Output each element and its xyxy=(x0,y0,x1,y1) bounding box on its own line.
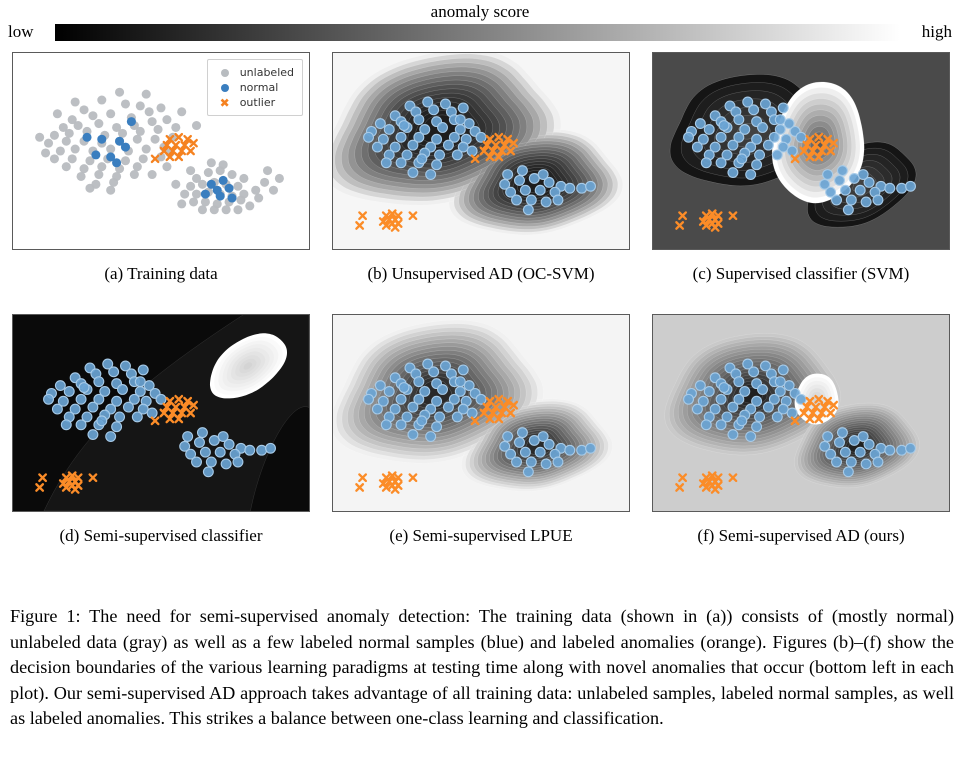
plot-b[interactable] xyxy=(332,52,630,250)
panel-c-caption: (c) Supervised classifier (SVM) xyxy=(652,264,950,284)
plot-d[interactable] xyxy=(12,314,310,512)
colorbar-high-label: high xyxy=(922,22,952,42)
colorbar-low-label: low xyxy=(8,22,34,42)
panel-b-caption: (b) Unsupervised AD (OC-SVM) xyxy=(332,264,630,284)
cross-icon: ✖ xyxy=(214,95,236,110)
legend-item-outlier: ✖ outlier xyxy=(214,95,294,110)
legend-item-unlabeled: unlabeled xyxy=(214,65,294,80)
figure-caption: Figure 1: The need for semi-supervised a… xyxy=(10,604,954,732)
circle-icon xyxy=(214,65,236,80)
legend: unlabeled normal ✖ outlier xyxy=(207,59,303,116)
panel-a-caption: (a) Training data xyxy=(12,264,310,284)
panel-f-caption: (f) Semi-supervised AD (ours) xyxy=(652,526,950,546)
legend-item-normal: normal xyxy=(214,80,294,95)
legend-label-normal: normal xyxy=(240,80,279,95)
panel-d-caption: (d) Semi-supervised classifier xyxy=(12,526,310,546)
plot-e[interactable] xyxy=(332,314,630,512)
plot-f[interactable] xyxy=(652,314,950,512)
colorbar-gradient xyxy=(55,24,900,41)
plot-a[interactable]: unlabeled normal ✖ outlier xyxy=(12,52,310,250)
colorbar-title: anomaly score xyxy=(0,2,960,22)
figure-caption-label: Figure 1: xyxy=(10,606,81,626)
figure-caption-text: The need for semi-supervised anomaly det… xyxy=(10,606,954,728)
colorbar-block: anomaly score low high xyxy=(0,0,960,50)
plot-c[interactable] xyxy=(652,52,950,250)
legend-label-unlabeled: unlabeled xyxy=(240,65,294,80)
legend-label-outlier: outlier xyxy=(240,95,275,110)
panel-grid: unlabeled normal ✖ outlier (a) Training … xyxy=(0,52,960,562)
panel-e-caption: (e) Semi-supervised LPUE xyxy=(332,526,630,546)
circle-icon xyxy=(214,80,236,95)
